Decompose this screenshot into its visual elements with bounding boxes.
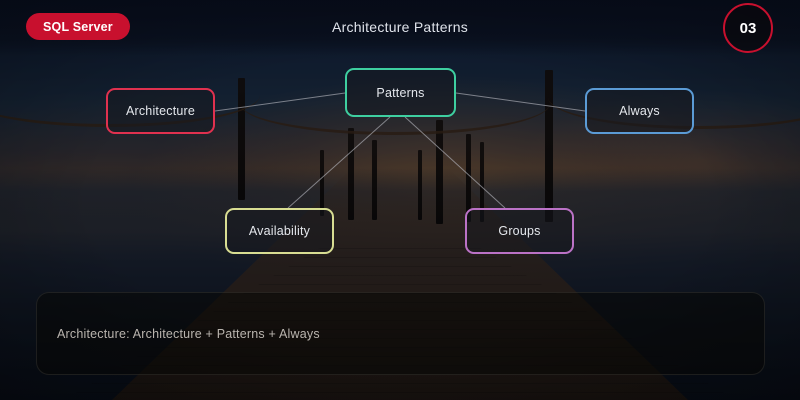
connector-line-architecture-to-patterns [215, 93, 345, 111]
diagram-node-label: Architecture [126, 104, 195, 118]
diagram-node-always[interactable]: Always [585, 88, 694, 134]
diagram-node-architecture[interactable]: Architecture [106, 88, 215, 134]
caption-text: Architecture: Architecture + Patterns + … [37, 327, 320, 341]
connector-line-patterns-to-always [456, 93, 585, 111]
diagram-node-label: Groups [498, 224, 540, 238]
diagram-node-groups[interactable]: Groups [465, 208, 574, 254]
connector-line-patterns-to-availability [288, 117, 390, 208]
slide-canvas: SQL Server Architecture Patterns 03 Patt… [0, 0, 800, 400]
diagram-node-label: Availability [249, 224, 310, 238]
connector-line-patterns-to-groups [405, 117, 505, 208]
diagram-node-availability[interactable]: Availability [225, 208, 334, 254]
diagram-node-patterns[interactable]: Patterns [345, 68, 456, 117]
diagram-node-label: Patterns [376, 86, 424, 100]
caption-panel: Architecture: Architecture + Patterns + … [36, 292, 765, 375]
diagram-node-label: Always [619, 104, 660, 118]
